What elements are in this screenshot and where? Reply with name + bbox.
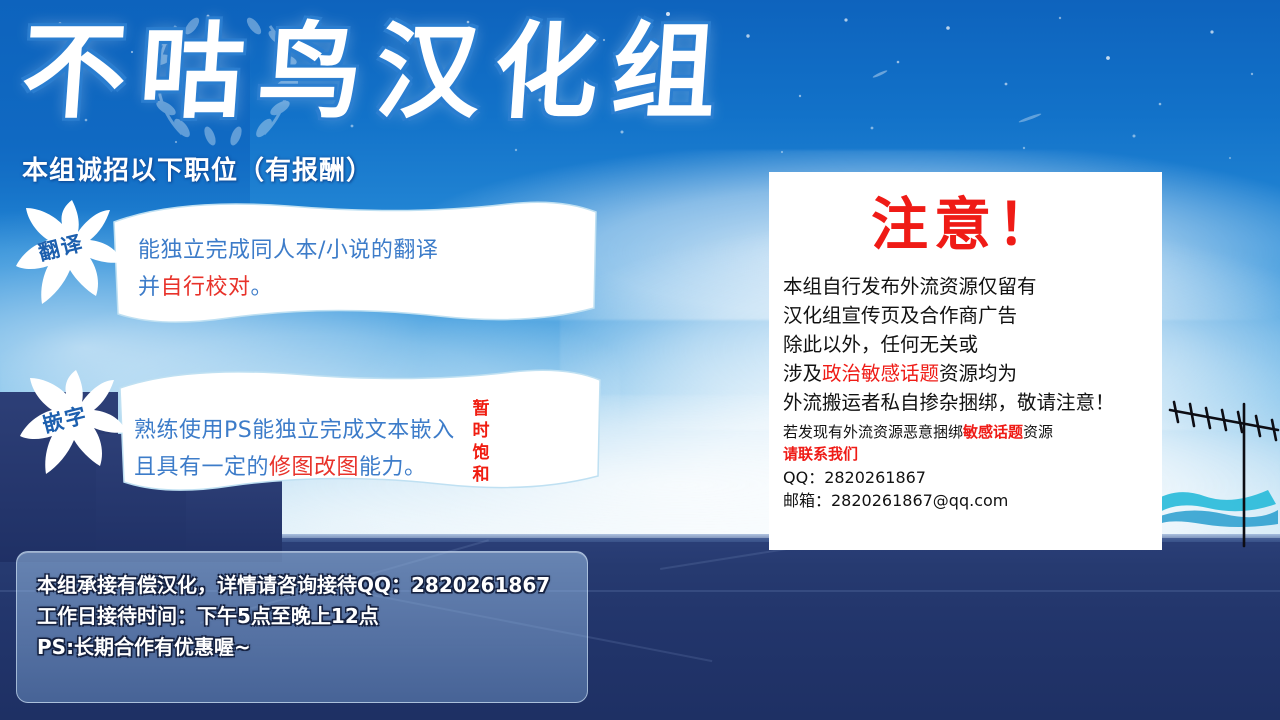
notice-small-suffix: 资源 [1023,423,1053,441]
notice-line-prefix: 除此以外，任何无关或 [783,333,978,356]
status-char-4: 和 [468,464,494,486]
page-subtitle: 本组诚招以下职位（有报酬） [22,150,373,187]
notice-line: 本组自行发布外流资源仅留有 [783,272,1162,301]
ribbon-line-2-prefix: 且具有一定的 [134,455,269,480]
status-char-1: 暂 [468,398,494,420]
notice-line-prefix: 本组自行发布外流资源仅留有 [783,275,1037,298]
status-badge-typesetting: 暂 时 饱 和 [468,398,494,486]
ribbon-line-2-highlight: 自行校对 [161,275,251,300]
poster-canvas: 不咕鸟汉化组 本组诚招以下职位（有报酬） 能独立完成同人本/小说的翻译 并自行校… [0,0,1280,720]
dove-badge-translation: 翻译 [14,198,126,316]
dove-badge-typesetting: 嵌字 [18,368,130,486]
notice-small-prefix: 若发现有外流资源恶意捆绑 [783,423,963,441]
ribbon-line-1: 能独立完成同人本/小说的翻译 [138,232,438,269]
contact-cta: 请联系我们 [783,443,1162,465]
ribbon-text: 能独立完成同人本/小说的翻译 并自行校对。 [138,232,438,306]
commission-info-panel: 本组承接有偿汉化，详情请咨询接待QQ：2820261867 工作日接待时间：下午… [16,551,588,703]
ribbon-line-2-suffix: 。 [251,275,274,300]
ribbon-line-2-highlight: 修图改图 [269,455,359,480]
tv-antenna-icon [1168,398,1280,548]
notice-small-highlight: 敏感话题 [963,423,1023,441]
commission-line-2: 工作日接待时间：下午5点至晚上12点 [37,601,550,632]
commission-line-1: 本组承接有偿汉化，详情请咨询接待QQ：2820261867 [37,570,550,601]
notice-title: 注意！ [769,194,1162,256]
contact-email[interactable]: 邮箱：2820261867@qq.com [783,489,1162,512]
notice-body: 本组自行发布外流资源仅留有 汉化组宣传页及合作商广告 除此以外，任何无关或 涉及… [783,272,1162,417]
commission-line-3: PS:长期合作有优惠喔~ [37,632,550,663]
ribbon-line-2-prefix: 并 [138,275,161,300]
notice-small-line: 若发现有外流资源恶意捆绑敏感话题资源 [783,421,1162,443]
position-ribbon-translation: 能独立完成同人本/小说的翻译 并自行校对。 [108,196,598,332]
notice-line-prefix: 汉化组宣传页及合作商广告 [783,304,1017,327]
notice-line-prefix: 涉及 [783,362,822,385]
notice-panel: 注意！ 本组自行发布外流资源仅留有 汉化组宣传页及合作商广告 除此以外，任何无关… [769,172,1162,550]
commission-info-text: 本组承接有偿汉化，详情请咨询接待QQ：2820261867 工作日接待时间：下午… [37,570,550,663]
status-char-3: 饱 [468,442,494,464]
notice-small-note: 若发现有外流资源恶意捆绑敏感话题资源 请联系我们 [783,421,1162,465]
ribbon-line-2-suffix: 能力。 [359,455,427,480]
ribbon-line-2: 且具有一定的修图改图能力。 [134,449,455,486]
notice-line: 涉及政治敏感话题资源均为 [783,359,1162,388]
notice-line-suffix: 资源均为 [939,362,1017,385]
status-char-2: 时 [468,420,494,442]
notice-line-highlight: 政治敏感话题 [822,362,939,385]
contact-block: QQ：2820261867 邮箱：2820261867@qq.com [783,466,1162,512]
notice-line: 汉化组宣传页及合作商广告 [783,301,1162,330]
ribbon-line-2: 并自行校对。 [138,269,438,306]
ribbon-line-1: 熟练使用PS能独立完成文本嵌入 [134,412,455,449]
notice-line-prefix: 外流搬运者私自掺杂捆绑，敬请注意！ [783,391,1115,414]
page-title: 不咕鸟汉化组 [18,12,767,138]
position-ribbon-typesetting: 熟练使用PS能独立完成文本嵌入 且具有一定的修图改图能力。 [112,366,602,502]
notice-line: 除此以外，任何无关或 [783,330,1162,359]
ribbon-text: 熟练使用PS能独立完成文本嵌入 且具有一定的修图改图能力。 [134,412,455,486]
notice-line: 外流搬运者私自掺杂捆绑，敬请注意！ [783,388,1162,417]
contact-qq[interactable]: QQ：2820261867 [783,466,1162,489]
